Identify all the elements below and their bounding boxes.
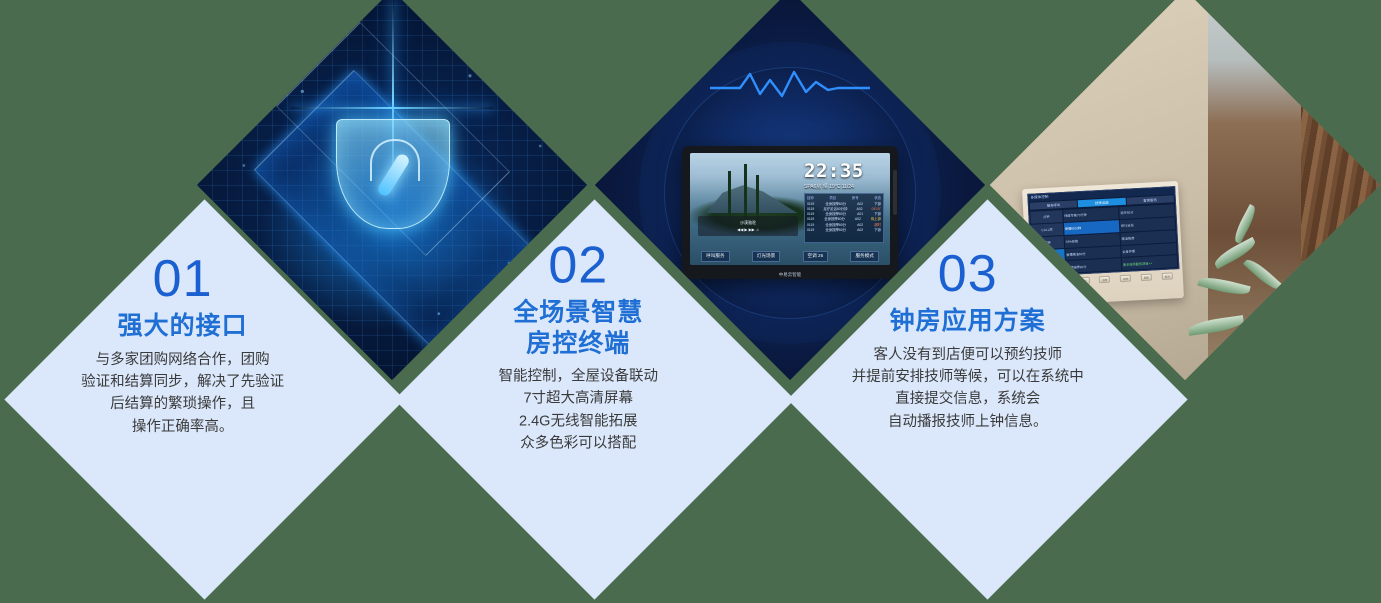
tablet-screen[interactable]: 22:35 SPA6房 晴 19°C 11/24 技师 项目 房号 状态 011… xyxy=(690,153,890,265)
card-desc-02-line-0: 智能控制，全屋设备联动 xyxy=(498,365,658,387)
panel-side-button[interactable]: 点钟 xyxy=(1030,210,1062,224)
cell-tech: 0119 xyxy=(807,228,814,233)
table-row: 0119全身按摩60分A02下钟 xyxy=(807,228,881,233)
card-number-03: 03 xyxy=(938,247,998,299)
panel-key[interactable]: 免扰 xyxy=(1078,277,1089,285)
pulse-svg xyxy=(710,68,870,102)
card-desc-02-line-2: 2.4G无线智能拓展 xyxy=(498,410,658,432)
leaf-2 xyxy=(1198,273,1251,297)
wooden-rail-top xyxy=(1299,62,1378,102)
card-desc-02: 智能控制，全屋设备联动 7寸超大高清屏幕 2.4G无线智能拓展 众多色彩可以搭配 xyxy=(498,365,657,455)
cell-item: 全身按摩60分 xyxy=(825,228,846,233)
card-desc-02-line-3: 众多色彩可以搭配 xyxy=(498,432,658,454)
card-desc-03: 客人没有到店便可以预约技师 并提前安排技师等候，可以在系统中 直接提交信息，系统… xyxy=(852,343,1084,433)
panel-menu-right[interactable]: 足疗60分修行足浴精油按摩全身护理更多技师服务项目>> xyxy=(1119,204,1177,270)
tablet-taskbar[interactable]: 呼叫服务 灯光场景 空调 26 服务模式 xyxy=(690,251,890,262)
leaf-5 xyxy=(1187,315,1244,336)
tree-2 xyxy=(744,164,747,222)
clock-widget: 22:35 SPA6房 晴 19°C 11/24 xyxy=(804,162,884,190)
table-body: 0119全身按摩60分A02下钟0119足疗足浴60分钟A0205'15"011… xyxy=(807,202,881,234)
card-desc-01-line-1: 验证和结算同步，解决了先验证 xyxy=(81,370,284,392)
card-desc-01-line-3: 操作正确率高。 xyxy=(81,415,284,437)
panel-menu-item[interactable]: 更多技师服务项目>> xyxy=(1122,256,1178,271)
tablet-brand-logo: 中易云智能 xyxy=(682,272,898,278)
card-desc-01-line-2: 后结算的繁琐操作，且 xyxy=(81,393,284,415)
media-controls[interactable]: ◀◀ ▶ ▶▶ ♫ xyxy=(737,227,759,232)
card-title-02-line-0: 全场景智慧 xyxy=(513,297,643,328)
control-tablet-device: 22:35 SPA6房 晴 19°C 11/24 技师 项目 房号 状态 011… xyxy=(682,146,898,279)
pulse-wave-icon xyxy=(710,68,870,102)
panel-key[interactable]: 取消 xyxy=(1162,273,1173,281)
panel-side-button[interactable]: 圆钟 xyxy=(1032,236,1064,250)
light-beam-horizontal xyxy=(291,107,494,109)
card-desc-03-line-0: 客人没有到店便可以预约技师 xyxy=(852,343,1084,365)
media-title: 沙漠骆驼 xyxy=(740,220,756,226)
card-number-02: 02 xyxy=(548,239,608,291)
mountain-shape xyxy=(706,182,798,213)
taskbar-call-service[interactable]: 呼叫服务 xyxy=(701,251,729,262)
tree-1 xyxy=(728,171,731,223)
cell-room: A02 xyxy=(857,228,863,233)
media-player-widget[interactable]: 沙漠骆驼 ◀◀ ▶ ▶▶ ♫ xyxy=(698,216,798,236)
panel-key[interactable]: 加钟 xyxy=(1120,275,1131,283)
tablet-speaker-grill xyxy=(893,170,897,215)
taskbar-service-mode[interactable]: 服务模式 xyxy=(850,251,878,262)
card-title-01: 强大的接口 xyxy=(118,310,248,341)
technician-status-table: 技师 项目 房号 状态 0119全身按摩60分A02下钟0119足疗足浴60分钟… xyxy=(804,193,884,242)
feature-diamond-layout: 22:35 SPA6房 晴 19°C 11/24 技师 项目 房号 状态 011… xyxy=(0,0,1381,603)
panel-menu-columns: 保健专案70分钟保健60分钟SPA经络香薰精油60分香薰按摩90分 足疗60分修… xyxy=(1063,204,1177,273)
potted-plant xyxy=(1185,201,1318,380)
card-title-02-line-1: 房控终端 xyxy=(513,327,643,358)
card-title-03: 钟房应用方案 xyxy=(890,305,1046,336)
clock-subtitle: SPA6房 晴 19°C 11/24 xyxy=(804,183,884,190)
panel-key[interactable]: 服务 xyxy=(1141,274,1152,282)
panel-side-button[interactable]: CALL房 xyxy=(1031,223,1063,237)
panel-key[interactable]: 退房 xyxy=(1099,276,1110,284)
taskbar-light-scene[interactable]: 灯光场景 xyxy=(752,251,780,262)
clock-time: 22:35 xyxy=(804,162,884,181)
taskbar-aircon[interactable]: 空调 26 xyxy=(803,251,829,262)
card-desc-01: 与多家团购网络合作，团购 验证和结算同步，解决了先验证 后结算的繁琐操作，且 操… xyxy=(81,348,284,438)
card-number-01: 01 xyxy=(153,252,213,304)
panel-menu-left[interactable]: 保健专案70分钟保健60分钟SPA经络香薰精油60分香薰按摩90分 xyxy=(1063,207,1121,273)
leaf-3 xyxy=(1231,204,1259,244)
card-desc-01-line-0: 与多家团购网络合作，团购 xyxy=(81,348,284,370)
card-desc-02-line-1: 7寸超大高清屏幕 xyxy=(498,387,658,409)
card-desc-03-line-1: 并提前安排技师等候，可以在系统中 xyxy=(852,365,1084,387)
card-desc-03-line-2: 直接提交信息，系统会 xyxy=(852,388,1084,410)
card-desc-03-line-3: 自动播报技师上钟信息。 xyxy=(852,410,1084,432)
cell-status: 下钟 xyxy=(874,228,881,233)
panel-menu-item[interactable]: 香薰按摩90分 xyxy=(1066,259,1122,274)
card-title-02: 全场景智慧 房控终端 xyxy=(513,297,643,358)
